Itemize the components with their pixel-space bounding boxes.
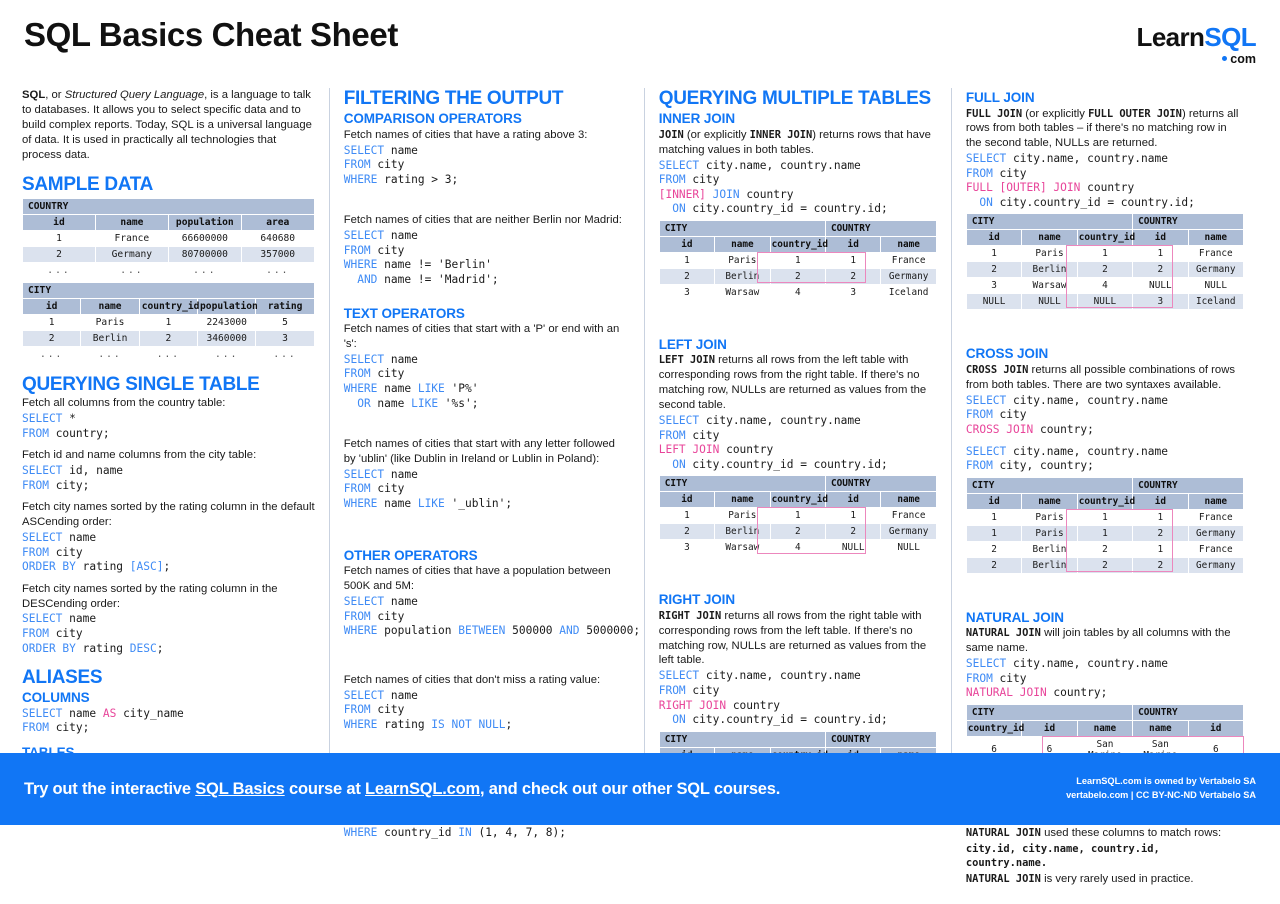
table-row: 2 Berlin 2 2 Germany [967, 558, 1243, 573]
logo-dot-icon [1222, 56, 1227, 61]
table-row: NULL NULL NULL 3 Iceland [967, 294, 1243, 309]
kw-natural-join: NATURAL JOIN [966, 627, 1041, 639]
section-filtering-output: FILTERING THE OUTPUT [344, 88, 630, 109]
table-row-ellipsis: ... ... ... ... [23, 263, 314, 278]
cell: 1 [967, 526, 1021, 541]
col-name: name [81, 299, 138, 314]
cell: 2 [1133, 262, 1187, 277]
col-name: name [881, 237, 935, 252]
cell: 1 [1133, 510, 1187, 525]
cell: 2 [1133, 558, 1187, 573]
table-row: 3 Warsaw 4 NULL NULL [660, 540, 936, 555]
col-name: name [1189, 494, 1243, 509]
cell: Warsaw [715, 285, 769, 300]
cell: NULL [1133, 278, 1187, 293]
cheat-sheet-page: SQL Basics Cheat Sheet LearnSQL com SQL,… [0, 0, 1280, 825]
col-id: id [967, 494, 1021, 509]
col-id: id [967, 230, 1021, 245]
table-row: 2 Berlin 2 2 Germany [660, 524, 936, 539]
cell: 2 [1133, 526, 1187, 541]
cell: France [96, 231, 168, 246]
txt: (or explicitly [684, 129, 750, 141]
col-population: population [169, 215, 241, 230]
desc-right-join: RIGHT JOIN returns all rows from the rig… [659, 609, 937, 669]
subsection-inner-join: INNER JOIN [659, 111, 937, 127]
cell: 357000 [242, 247, 314, 262]
footer-license: vertabelo.com | CC BY-NC-ND Vertabelo SA [1066, 789, 1256, 803]
subsection-full-join: FULL JOIN [966, 90, 1244, 106]
desc-natural-join: NATURAL JOIN will join tables by all col… [966, 626, 1244, 656]
cell: 4 [771, 540, 825, 555]
cell: France [1189, 542, 1243, 557]
logo-com-text: com [1230, 52, 1256, 66]
cell: ... [140, 347, 197, 362]
logo-learn-text: Learn [1137, 22, 1205, 52]
cell: 1 [967, 510, 1021, 525]
cell: Berlin [81, 331, 138, 346]
cell: Iceland [881, 285, 935, 300]
code-select-id-name: SELECT id, name FROM city; [22, 464, 315, 493]
section-aliases: ALIASES [22, 667, 315, 688]
cell: 1 [1078, 526, 1132, 541]
col-id: id [1022, 721, 1076, 736]
col-id: id [1133, 230, 1187, 245]
col-name: name [881, 492, 935, 507]
cell: 2 [967, 542, 1021, 557]
footer-text-1: Try out the interactive [24, 780, 195, 798]
col-id: id [826, 237, 880, 252]
cell: 1 [771, 253, 825, 268]
cell: Iceland [1189, 294, 1243, 309]
note-natural-join-columns: NATURAL JOIN used these columns to match… [966, 826, 1244, 841]
cell: 1 [1133, 246, 1187, 261]
col-name: name [715, 237, 769, 252]
subsection-text-operators: TEXT OPERATORS [344, 306, 630, 322]
table-name-city: CITY [967, 705, 1132, 720]
cell: 1 [1078, 246, 1132, 261]
table-header-row: id name country_id id name [660, 492, 936, 507]
code-order-by-desc: SELECT name FROM city ORDER BY rating DE… [22, 612, 315, 656]
cell: ... [96, 263, 168, 278]
cell: Germany [1189, 526, 1243, 541]
table-row: 3 Warsaw 4 3 Iceland [660, 285, 936, 300]
column-3: QUERYING MULTIPLE TABLES INNER JOIN JOIN… [644, 88, 951, 824]
desc-fetch-id-name: Fetch id and name columns from the city … [22, 448, 315, 463]
txt: is very rarely used in practice. [1041, 873, 1194, 885]
matched-columns: city.id, city.name, country.id, country.… [966, 843, 1160, 870]
kw-right-join: RIGHT JOIN [659, 610, 722, 622]
footer-text-2: course at [285, 780, 365, 798]
column-2: FILTERING THE OUTPUT COMPARISON OPERATOR… [329, 88, 644, 824]
cell: 2 [23, 247, 95, 262]
cell: Warsaw [1022, 278, 1076, 293]
table-name-city: CITY [660, 732, 825, 747]
cell: NULL [826, 540, 880, 555]
col-id: id [660, 492, 714, 507]
desc-neither-berlin-madrid: Fetch names of cities that are neither B… [344, 213, 630, 228]
col-country-id: country_id [771, 492, 825, 507]
cell: France [881, 253, 935, 268]
cell: NULL [1078, 294, 1132, 309]
table-name-country: COUNTRY [23, 199, 314, 214]
subsection-cross-join: CROSS JOIN [966, 346, 1244, 362]
result-table-cross-join: CITY COUNTRY id name country_id id name … [966, 477, 1244, 574]
content-columns: SQL, or Structured Query Language, is a … [0, 88, 1280, 824]
table-name-city: CITY [23, 283, 314, 298]
col-id: id [826, 492, 880, 507]
code-order-by-asc: SELECT name FROM city ORDER BY rating [A… [22, 531, 315, 575]
col-id: id [1189, 721, 1243, 736]
cell: 2243000 [198, 315, 255, 330]
page-title: SQL Basics Cheat Sheet [24, 18, 1256, 53]
code-cross-join-2: SELECT city.name, country.name FROM city… [966, 445, 1244, 474]
col-name: name [1133, 721, 1187, 736]
cell: Germany [1189, 262, 1243, 277]
cell: 1 [1133, 542, 1187, 557]
table-row: 1 Paris 1 1 France [967, 246, 1243, 261]
cell: 2 [1078, 558, 1132, 573]
desc-order-asc: Fetch city names sorted by the rating co… [22, 500, 315, 530]
cell: NULL [1022, 294, 1076, 309]
cell: Germany [881, 524, 935, 539]
code-left-join: SELECT city.name, country.name FROM city… [659, 414, 937, 472]
cell: 4 [771, 285, 825, 300]
code-like-wildcards: SELECT name FROM city WHERE name LIKE 'P… [344, 353, 630, 411]
subsection-other-operators: OTHER OPERATORS [344, 548, 630, 564]
table-header-row: id name country_id population rating [23, 299, 314, 314]
cell: 2 [1078, 542, 1132, 557]
table-name-country: COUNTRY [826, 732, 936, 747]
table-row: 2 Berlin 2 2 Germany [967, 262, 1243, 277]
cell: 3 [826, 285, 880, 300]
desc-like-underscore: Fetch names of cities that start with an… [344, 437, 630, 467]
cell: Germany [881, 269, 935, 284]
cell: 2 [1078, 262, 1132, 277]
col-rating: rating [256, 299, 313, 314]
table-row: 3 Warsaw 4 NULL NULL [967, 278, 1243, 293]
desc-inner-join: JOIN (or explicitly INNER JOIN) returns … [659, 128, 937, 158]
cell: 1 [1078, 510, 1132, 525]
code-select-star: SELECT * FROM country; [22, 412, 315, 441]
kw-cross-join: CROSS JOIN [966, 364, 1029, 376]
txt: used these columns to match rows: [1041, 827, 1221, 839]
kw-natural-join: NATURAL JOIN [966, 827, 1041, 839]
desc-rating-above-3: Fetch names of cities that have a rating… [344, 128, 630, 143]
section-querying-multiple-tables: QUERYING MULTIPLE TABLES [659, 88, 937, 109]
cell: 2 [967, 558, 1021, 573]
intro-rest1: , or [45, 89, 64, 101]
footer-link-learnsql[interactable]: LearnSQL.com [365, 780, 480, 798]
code-right-join: SELECT city.name, country.name FROM city… [659, 669, 937, 727]
desc-is-not-null: Fetch names of cities that don't miss a … [344, 673, 630, 688]
col-id: id [23, 215, 95, 230]
column-4: FULL JOIN FULL JOIN (or explicitly FULL … [951, 88, 1258, 824]
col-name: name [96, 215, 168, 230]
cell: 1 [140, 315, 197, 330]
page-header: SQL Basics Cheat Sheet LearnSQL com [0, 0, 1280, 88]
cell: 2 [23, 331, 80, 346]
col-country-id: country_id [1078, 230, 1132, 245]
col-country-id: country_id [140, 299, 197, 314]
cell: Paris [81, 315, 138, 330]
footer-owner: LearnSQL.com is owned by Vertabelo SA [1066, 775, 1256, 789]
cell: 640680 [242, 231, 314, 246]
code-column-alias: SELECT name AS city_name FROM city; [22, 707, 315, 736]
table-name-city: CITY [660, 476, 825, 491]
cell: 4 [1078, 278, 1132, 293]
txt: (or explicitly [1022, 108, 1088, 120]
code-where-rating: SELECT name FROM city WHERE rating > 3; [344, 144, 630, 188]
subsection-columns: COLUMNS [22, 690, 315, 706]
col-country-id: country_id [771, 237, 825, 252]
code-natural-join: SELECT city.name, country.name FROM city… [966, 657, 1244, 701]
col-id: id [660, 237, 714, 252]
table-row-ellipsis: ... ... ... ... ... [23, 347, 314, 362]
cell: 1 [826, 253, 880, 268]
desc-fetch-all-columns: Fetch all columns from the country table… [22, 396, 315, 411]
col-name: name [1189, 230, 1243, 245]
cell: 3 [256, 331, 313, 346]
table-header-row: country_id id name name id [967, 721, 1243, 736]
cell: Berlin [1022, 262, 1076, 277]
subsection-natural-join: NATURAL JOIN [966, 610, 1244, 626]
cell: Berlin [1022, 558, 1076, 573]
cell: 3 [660, 540, 714, 555]
note-natural-join-column-list: city.id, city.name, country.id, country.… [966, 842, 1244, 872]
table-name-country: COUNTRY [826, 221, 936, 236]
col-name: name [1078, 721, 1132, 736]
cell: Paris [715, 508, 769, 523]
table-row: 2 Germany 80700000 357000 [23, 247, 314, 262]
col-name: name [715, 492, 769, 507]
table-row: 2 Berlin 2 2 Germany [660, 269, 936, 284]
col-area: area [242, 215, 314, 230]
col-name: name [1022, 230, 1076, 245]
table-name-country: COUNTRY [1133, 478, 1243, 493]
cell: Germany [96, 247, 168, 262]
cell: 2 [826, 269, 880, 284]
cell: 2 [967, 262, 1021, 277]
cell: NULL [881, 540, 935, 555]
cell: 3 [967, 278, 1021, 293]
table-row: 2 Berlin 2 3460000 3 [23, 331, 314, 346]
cell: ... [81, 347, 138, 362]
code-is-not-null: SELECT name FROM city WHERE rating IS NO… [344, 689, 630, 733]
kw-join: JOIN [659, 129, 684, 141]
desc-left-join: LEFT JOIN returns all rows from the left… [659, 353, 937, 413]
col-population: population [198, 299, 255, 314]
col-id: id [23, 299, 80, 314]
cell: Berlin [1022, 542, 1076, 557]
note-natural-join-rare: NATURAL JOIN is very rarely used in prac… [966, 872, 1244, 887]
col-country-id: country_id [1078, 494, 1132, 509]
table-header-row: id name country_id id name [967, 494, 1243, 509]
cell: 1 [23, 231, 95, 246]
subsection-comparison-operators: COMPARISON OPERATORS [344, 111, 630, 127]
code-inner-join: SELECT city.name, country.name FROM city… [659, 159, 937, 217]
col-name: name [1022, 494, 1076, 509]
cell: 3 [1133, 294, 1187, 309]
subsection-right-join: RIGHT JOIN [659, 592, 937, 608]
cell: 5 [256, 315, 313, 330]
brand-logo: LearnSQL com [1137, 24, 1256, 66]
cell: ... [242, 263, 314, 278]
cell: 1 [660, 508, 714, 523]
section-sample-data: SAMPLE DATA [22, 174, 315, 195]
section-querying-single-table: QUERYING SINGLE TABLE [22, 374, 315, 395]
footer-legal: LearnSQL.com is owned by Vertabelo SA ve… [1066, 775, 1256, 803]
result-table-inner-join: CITY COUNTRY id name country_id id name … [659, 220, 937, 301]
cell: 2 [660, 524, 714, 539]
col-id: id [1133, 494, 1187, 509]
cell: 1 [660, 253, 714, 268]
desc-order-desc: Fetch city names sorted by the rating co… [22, 582, 315, 612]
code-where-not-equal: SELECT name FROM city WHERE name != 'Ber… [344, 229, 630, 287]
table-row: 1 Paris 1 2243000 5 [23, 315, 314, 330]
cell: France [881, 508, 935, 523]
table-name-country: COUNTRY [1133, 705, 1243, 720]
cell: Paris [1022, 526, 1076, 541]
desc-like-p-or-s: Fetch names of cities that start with a … [344, 322, 630, 352]
table-name-city: CITY [660, 221, 825, 236]
kw-full-join: FULL JOIN [966, 108, 1022, 120]
intro-paragraph: SQL, or Structured Query Language, is a … [22, 88, 315, 163]
cell: Berlin [715, 269, 769, 284]
footer-text-3: , and check out our other SQL courses. [480, 780, 780, 798]
cell: Paris [1022, 246, 1076, 261]
cell: France [1189, 510, 1243, 525]
cell: 1 [967, 246, 1021, 261]
desc-cross-join: CROSS JOIN returns all possible combinat… [966, 363, 1244, 393]
cell: NULL [967, 294, 1021, 309]
cell: Paris [1022, 510, 1076, 525]
table-header-row: id name country_id id name [660, 237, 936, 252]
table-country-sample: COUNTRY id name population area 1 France… [22, 198, 315, 279]
kw-full-outer-join: FULL OUTER JOIN [1088, 108, 1182, 120]
cell: France [1189, 246, 1243, 261]
code-cross-join-1: SELECT city.name, country.name FROM city… [966, 394, 1244, 438]
cell: Germany [1189, 558, 1243, 573]
table-row: 1 Paris 1 1 France [660, 253, 936, 268]
table-row: 2 Berlin 2 1 France [967, 542, 1243, 557]
cell: ... [23, 347, 80, 362]
column-1: SQL, or Structured Query Language, is a … [22, 88, 329, 824]
kw-natural-join: NATURAL JOIN [966, 873, 1041, 885]
desc-full-join: FULL JOIN (or explicitly FULL OUTER JOIN… [966, 107, 1244, 152]
table-city-sample: CITY id name country_id population ratin… [22, 282, 315, 363]
cell: 1 [23, 315, 80, 330]
cell: NULL [1189, 278, 1243, 293]
desc-between: Fetch names of cities that have a popula… [344, 564, 630, 594]
table-header-row: id name country_id id name [967, 230, 1243, 245]
cell: 1 [826, 508, 880, 523]
cell: 3460000 [198, 331, 255, 346]
code-between: SELECT name FROM city WHERE population B… [344, 595, 630, 639]
table-row: 1 Paris 1 2 Germany [967, 526, 1243, 541]
cell: ... [256, 347, 313, 362]
footer-link-sql-basics[interactable]: SQL Basics [195, 780, 284, 798]
table-name-country: COUNTRY [1133, 214, 1243, 229]
footer-cta: Try out the interactive SQL Basics cours… [24, 780, 780, 799]
result-table-left-join: CITY COUNTRY id name country_id id name … [659, 475, 937, 556]
cell: Paris [715, 253, 769, 268]
intro-italic: Structured Query Language [65, 89, 204, 101]
cell: 2 [140, 331, 197, 346]
cell: 66600000 [169, 231, 241, 246]
page-footer: Try out the interactive SQL Basics cours… [0, 753, 1280, 825]
cell: 2 [826, 524, 880, 539]
cell: ... [169, 263, 241, 278]
table-name-country: COUNTRY [826, 476, 936, 491]
code-like-underscore: SELECT name FROM city WHERE name LIKE '_… [344, 468, 630, 512]
cell: ... [23, 263, 95, 278]
cell: 2 [771, 524, 825, 539]
cell: ... [198, 347, 255, 362]
cell: Warsaw [715, 540, 769, 555]
table-row: 1 Paris 1 1 France [660, 508, 936, 523]
table-header-row: id name population area [23, 215, 314, 230]
intro-lead: SQL [22, 89, 45, 101]
table-row: 1 Paris 1 1 France [967, 510, 1243, 525]
cell: 3 [660, 285, 714, 300]
cell: 2 [771, 269, 825, 284]
kw-inner-join: INNER JOIN [750, 129, 813, 141]
table-row: 1 France 66600000 640680 [23, 231, 314, 246]
result-table-full-join: CITY COUNTRY id name country_id id name … [966, 213, 1244, 310]
logo-sql-text: SQL [1204, 22, 1256, 52]
code-full-join: SELECT city.name, country.name FROM city… [966, 152, 1244, 210]
kw-left-join: LEFT JOIN [659, 354, 715, 366]
table-name-city: CITY [967, 214, 1132, 229]
cell: 1 [771, 508, 825, 523]
col-country-id: country_id [967, 721, 1021, 736]
cell: Berlin [715, 524, 769, 539]
table-name-city: CITY [967, 478, 1132, 493]
subsection-left-join: LEFT JOIN [659, 337, 937, 353]
cell: 80700000 [169, 247, 241, 262]
cell: 2 [660, 269, 714, 284]
